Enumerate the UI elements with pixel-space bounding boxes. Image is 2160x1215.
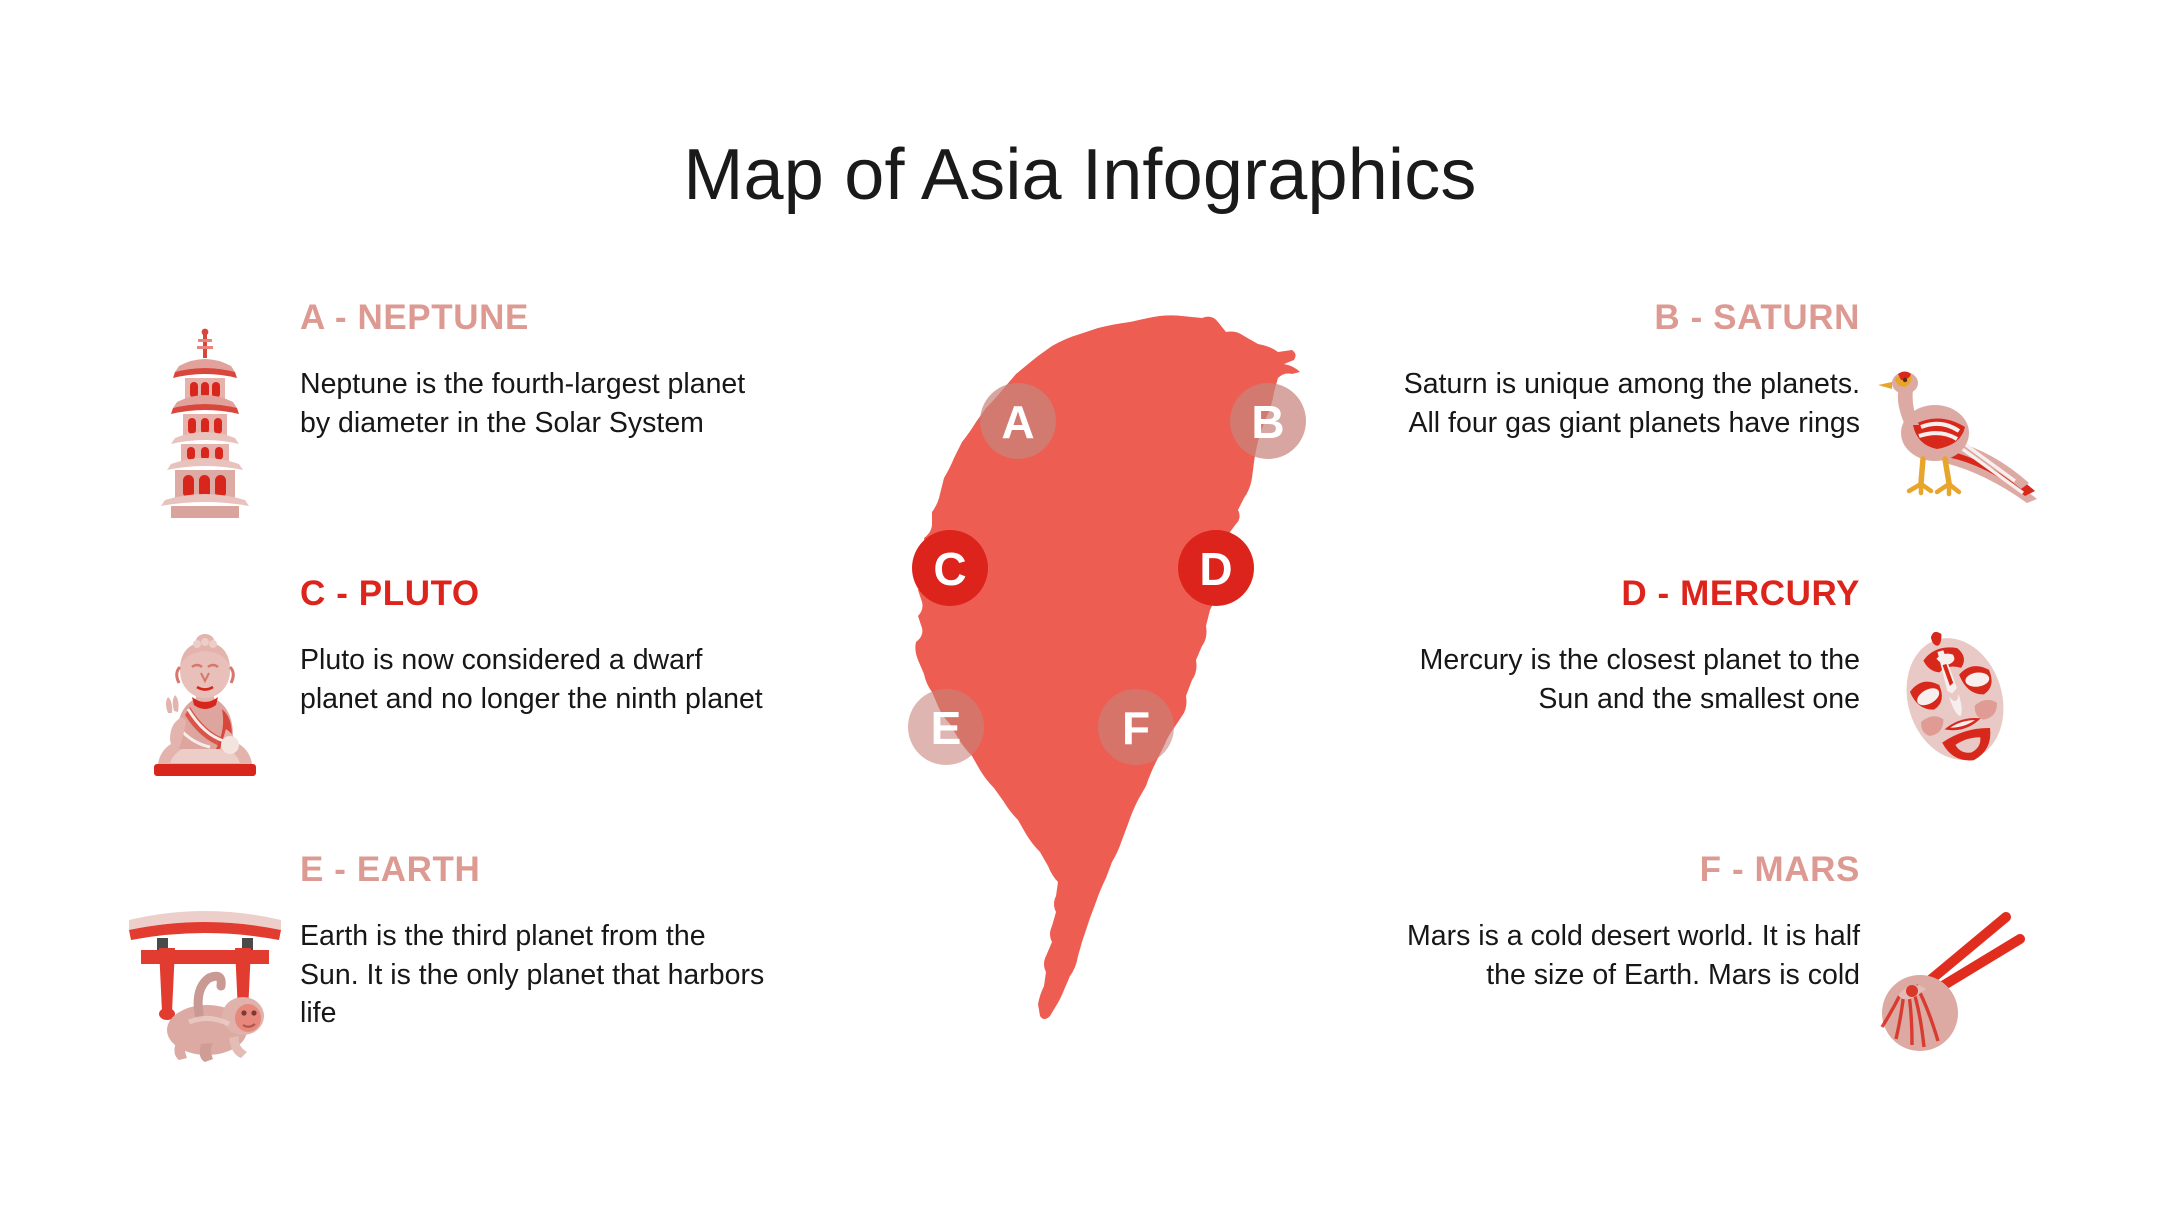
entry-d-body: Mercury is the closest planet to the Sun… — [1390, 641, 1860, 719]
opera-mask-icon — [1860, 584, 2050, 814]
taiwan-map: A B C D E F — [880, 300, 1440, 1050]
entry-e-earth: E - EARTH Earth is the third planet from… — [110, 852, 870, 1128]
torii-gate-monkey-icon — [110, 860, 300, 1090]
entry-a-neptune: A - NEPTUNE Neptune is the fourth-larges… — [110, 300, 870, 576]
entry-c-body: Pluto is now considered a dwarf planet a… — [300, 641, 770, 719]
entry-e-heading: E - EARTH — [300, 852, 860, 889]
entry-c-pluto: C - PLUTO Pluto is now considered a dwar… — [110, 576, 870, 852]
pagoda-icon — [110, 308, 300, 538]
entry-c-heading: C - PLUTO — [300, 576, 860, 613]
buddha-statue-icon — [110, 584, 300, 814]
map-marker-b-label: B — [1251, 396, 1284, 448]
map-marker-d-label: D — [1199, 543, 1232, 595]
pheasant-bird-icon — [1860, 308, 2050, 538]
dumpling-chopsticks-icon — [1860, 860, 2050, 1090]
entry-e-body: Earth is the third planet from the Sun. … — [300, 917, 770, 1033]
entry-b-body: Saturn is unique among the planets. All … — [1390, 365, 1860, 443]
left-column: A - NEPTUNE Neptune is the fourth-larges… — [110, 300, 870, 1128]
page-title: Map of Asia Infographics — [0, 136, 2160, 215]
map-marker-c-label: C — [933, 543, 966, 595]
entry-a-body: Neptune is the fourth-largest planet by … — [300, 365, 770, 443]
entry-a-heading: A - NEPTUNE — [300, 300, 860, 337]
map-marker-e[interactable]: E — [908, 689, 984, 765]
map-marker-d[interactable]: D — [1178, 530, 1254, 606]
entry-c-text: C - PLUTO Pluto is now considered a dwar… — [300, 576, 860, 718]
entry-a-text: A - NEPTUNE Neptune is the fourth-larges… — [300, 300, 860, 442]
map-marker-c[interactable]: C — [912, 530, 988, 606]
entry-f-body: Mars is a cold desert world. It is half … — [1390, 917, 1860, 995]
map-marker-a-label: A — [1001, 396, 1034, 448]
map-marker-e-label: E — [931, 702, 962, 754]
entry-e-text: E - EARTH Earth is the third planet from… — [300, 852, 860, 1033]
map-marker-f-label: F — [1122, 702, 1150, 754]
map-marker-a[interactable]: A — [980, 383, 1056, 459]
map-marker-b[interactable]: B — [1230, 383, 1306, 459]
map-marker-f[interactable]: F — [1098, 689, 1174, 765]
